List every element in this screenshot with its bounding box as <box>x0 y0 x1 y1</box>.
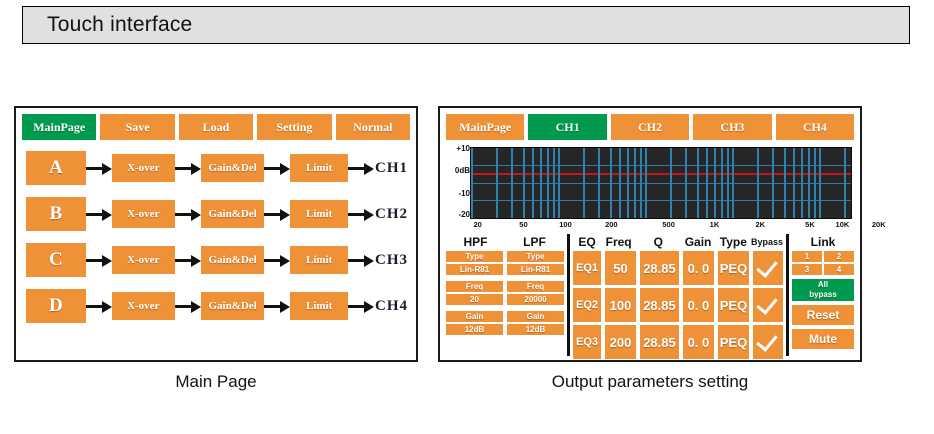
arrow-icon <box>175 207 201 221</box>
stage-xover-a[interactable]: X-over <box>112 154 175 182</box>
all-bypass-line1: All <box>792 280 854 290</box>
link-title: Link <box>792 234 854 251</box>
tab-setting[interactable]: Setting <box>257 114 331 140</box>
link-button-2[interactable]: 2 <box>824 251 854 262</box>
x-tick-500: 500 <box>662 220 675 229</box>
stage-limit-d[interactable]: Limit <box>290 292 348 320</box>
eq2-gain[interactable]: 0. 0 <box>683 288 714 322</box>
hpf-gain-value[interactable]: 12dB <box>446 324 503 335</box>
x-tick-1k: 1K <box>710 220 720 229</box>
signal-flow-row: B X-over Gain&Del Limit CH2 <box>26 194 408 234</box>
y-tick-plus10: +10 <box>456 144 470 153</box>
eq3-freq[interactable]: 200 <box>605 325 636 359</box>
check-icon <box>756 293 777 315</box>
tab-normal[interactable]: Normal <box>336 114 410 140</box>
tab-ch4[interactable]: CH4 <box>776 114 854 140</box>
output-parameters-caption: Output parameters setting <box>438 372 862 392</box>
lpf-header: LPF <box>505 234 564 251</box>
arrow-icon <box>86 253 112 267</box>
eq1-freq[interactable]: 50 <box>605 251 636 285</box>
stage-xover-c[interactable]: X-over <box>112 246 175 274</box>
link-button-4[interactable]: 4 <box>824 264 854 275</box>
eq1-name[interactable]: EQ1 <box>573 251 601 285</box>
all-bypass-line2: bypass <box>792 290 854 300</box>
chart-x-axis: 20 50 100 200 500 1K 2K 5K 10K 20K <box>470 220 852 232</box>
main-page-caption: Main Page <box>14 372 418 392</box>
x-tick-2k: 2K <box>756 220 766 229</box>
eq3-type[interactable]: PEQ <box>718 325 749 359</box>
col-header-type: Type <box>716 234 751 251</box>
x-tick-200: 200 <box>605 220 618 229</box>
output-ch2-label: CH2 <box>375 206 408 223</box>
link-button-1[interactable]: 1 <box>792 251 822 262</box>
lpf-freq-value[interactable]: 20000 <box>507 294 564 305</box>
output-ch3-label: CH3 <box>375 252 408 269</box>
col-header-eq: EQ <box>573 234 601 251</box>
col-header-gain: Gain <box>680 234 715 251</box>
arrow-icon <box>264 207 290 221</box>
arrow-icon <box>175 253 201 267</box>
mute-button[interactable]: Mute <box>792 329 854 349</box>
chart-plot-area[interactable] <box>470 147 852 219</box>
reset-button[interactable]: Reset <box>792 305 854 325</box>
eq1-gain[interactable]: 0. 0 <box>683 251 714 285</box>
arrow-icon <box>86 161 112 175</box>
check-icon <box>756 330 777 352</box>
vertical-divider <box>567 234 570 356</box>
filter-gain-group: Gain 12dB Gain 12dB <box>446 311 564 337</box>
eq-table-header-row: EQ Freq Q Gain Type Bypass <box>573 234 783 251</box>
table-row: EQ1 50 28.85 0. 0 PEQ <box>573 251 783 285</box>
title-bar: Touch interface <box>22 6 910 44</box>
table-row: EQ2 100 28.85 0. 0 PEQ <box>573 288 783 322</box>
y-tick-0db: 0dB <box>455 166 470 175</box>
lpf-type-label: Type <box>507 251 564 262</box>
eq1-q[interactable]: 28.85 <box>640 251 679 285</box>
main-page-tabstrip: MainPage Save Load Setting Normal <box>16 108 416 140</box>
stage-limit-c[interactable]: Limit <box>290 246 348 274</box>
arrow-icon <box>86 207 112 221</box>
chart-y-axis: +10 0dB -10 -20 <box>446 144 470 222</box>
eq1-bypass-checkbox[interactable] <box>753 251 783 285</box>
lpf-freq-group: Freq 20000 <box>507 281 564 307</box>
eq-table: EQ Freq Q Gain Type Bypass EQ1 50 28.85 … <box>573 234 783 356</box>
lpf-type-group: Type Lin-R81 <box>507 251 564 277</box>
filters-column: HPF LPF Type Lin-R81 Type Lin-R81 Freq 2… <box>446 234 564 356</box>
lpf-gain-label: Gain <box>507 311 564 322</box>
parameter-area: HPF LPF Type Lin-R81 Type Lin-R81 Freq 2… <box>446 234 854 356</box>
input-source-c[interactable]: C <box>26 243 86 277</box>
arrow-icon <box>175 161 201 175</box>
arrow-icon <box>175 299 201 313</box>
tab-load[interactable]: Load <box>179 114 253 140</box>
output-ch1-label: CH1 <box>375 160 408 177</box>
hpf-freq-label: Freq <box>446 281 503 292</box>
hpf-gain-group: Gain 12dB <box>446 311 503 337</box>
tab-save[interactable]: Save <box>100 114 174 140</box>
tab-ch2[interactable]: CH2 <box>611 114 689 140</box>
filters-header-row: HPF LPF <box>446 234 564 251</box>
eq3-gain[interactable]: 0. 0 <box>683 325 714 359</box>
tab-ch3[interactable]: CH3 <box>693 114 771 140</box>
input-source-a[interactable]: A <box>26 151 86 185</box>
arrow-icon <box>264 253 290 267</box>
eq1-type[interactable]: PEQ <box>718 251 749 285</box>
eq2-freq[interactable]: 100 <box>605 288 636 322</box>
eq3-q[interactable]: 28.85 <box>640 325 679 359</box>
eq2-bypass-checkbox[interactable] <box>753 288 783 322</box>
tab-ch1[interactable]: CH1 <box>528 114 606 140</box>
hpf-freq-value[interactable]: 20 <box>446 294 503 305</box>
hpf-type-value[interactable]: Lin-R81 <box>446 264 503 275</box>
stage-gaindel-a[interactable]: Gain&Del <box>201 154 264 182</box>
page-title: Touch interface <box>23 13 192 37</box>
x-tick-20k: 20K <box>872 220 886 229</box>
input-source-d[interactable]: D <box>26 289 86 323</box>
signal-flow-row: A X-over Gain&Del Limit CH1 <box>26 148 408 188</box>
col-header-bypass: Bypass <box>751 234 783 251</box>
y-tick-minus10: -10 <box>458 189 470 198</box>
signal-flow-row: C X-over Gain&Del Limit CH3 <box>26 240 408 280</box>
check-icon <box>756 256 777 278</box>
col-header-freq: Freq <box>601 234 636 251</box>
arrow-icon <box>264 161 290 175</box>
main-page-panel: MainPage Save Load Setting Normal A X-ov… <box>14 106 418 362</box>
eq2-name[interactable]: EQ2 <box>573 288 601 322</box>
table-row: EQ3 200 28.85 0. 0 PEQ <box>573 325 783 359</box>
stage-xover-d[interactable]: X-over <box>112 292 175 320</box>
eq3-bypass-checkbox[interactable] <box>753 325 783 359</box>
link-button-3[interactable]: 3 <box>792 264 822 275</box>
arrow-icon <box>348 161 374 175</box>
vertical-divider <box>786 234 789 356</box>
x-tick-100: 100 <box>559 220 572 229</box>
y-tick-minus20: -20 <box>458 210 470 219</box>
stage-gaindel-c[interactable]: Gain&Del <box>201 246 264 274</box>
lpf-gain-value[interactable]: 12dB <box>507 324 564 335</box>
filter-type-group: Type Lin-R81 Type Lin-R81 <box>446 251 564 277</box>
output-parameters-panel: MainPage CH1 CH2 CH3 CH4 +10 0dB -10 -20 <box>438 106 862 362</box>
lpf-gain-group: Gain 12dB <box>507 311 564 337</box>
hpf-type-group: Type Lin-R81 <box>446 251 503 277</box>
x-tick-10k: 10K <box>836 220 850 229</box>
stage-limit-b[interactable]: Limit <box>290 200 348 228</box>
x-tick-20: 20 <box>473 220 481 229</box>
eq-response-chart[interactable]: +10 0dB -10 -20 <box>446 144 854 232</box>
stage-gaindel-d[interactable]: Gain&Del <box>201 292 264 320</box>
eq3-name[interactable]: EQ3 <box>573 325 601 359</box>
lpf-freq-label: Freq <box>507 281 564 292</box>
arrow-icon <box>348 207 374 221</box>
tab-mainpage[interactable]: MainPage <box>446 114 524 140</box>
eq2-type[interactable]: PEQ <box>718 288 749 322</box>
all-bypass-button[interactable]: All bypass <box>792 279 854 301</box>
hpf-header: HPF <box>446 234 505 251</box>
x-tick-5k: 5K <box>805 220 815 229</box>
stage-gaindel-b[interactable]: Gain&Del <box>201 200 264 228</box>
filter-freq-group: Freq 20 Freq 20000 <box>446 281 564 307</box>
arrow-icon <box>348 299 374 313</box>
arrow-icon <box>348 253 374 267</box>
hpf-freq-group: Freq 20 <box>446 281 503 307</box>
tab-mainpage[interactable]: MainPage <box>22 114 96 140</box>
hpf-type-label: Type <box>446 251 503 262</box>
x-tick-50: 50 <box>519 220 527 229</box>
stage-xover-b[interactable]: X-over <box>112 200 175 228</box>
link-buttons: 1 2 3 4 <box>792 251 854 275</box>
eq2-q[interactable]: 28.85 <box>640 288 679 322</box>
signal-flow-row: D X-over Gain&Del Limit CH4 <box>26 286 408 326</box>
arrow-icon <box>264 299 290 313</box>
channel-tabstrip: MainPage CH1 CH2 CH3 CH4 <box>440 108 860 140</box>
stage-limit-a[interactable]: Limit <box>290 154 348 182</box>
arrow-icon <box>86 299 112 313</box>
lpf-type-value[interactable]: Lin-R81 <box>507 264 564 275</box>
input-source-b[interactable]: B <box>26 197 86 231</box>
hpf-gain-label: Gain <box>446 311 503 322</box>
link-column: Link 1 2 3 4 All bypass Reset Mute <box>792 234 854 356</box>
signal-flow-diagram: A X-over Gain&Del Limit CH1 B X-over Gai… <box>16 140 416 338</box>
output-ch4-label: CH4 <box>375 298 408 315</box>
col-header-q: Q <box>636 234 680 251</box>
